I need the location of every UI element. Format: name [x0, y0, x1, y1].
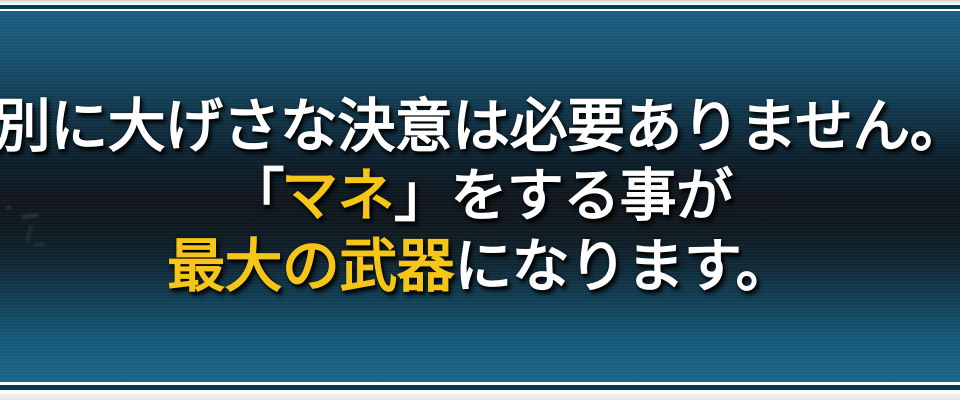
headline-line-2-tail: 」をする事が — [394, 163, 733, 229]
promo-banner: 別に大げさな決意は必要ありません。 「マネ」をする事が 最大の武器になります。 — [0, 0, 960, 400]
bottom-border-chrome — [0, 382, 960, 400]
bottom-grey-strip — [0, 393, 960, 400]
headline-line-1-text: 別に大げさな決意は必要ありません。 — [0, 92, 960, 160]
headline-line-3: 最大の武器になります。 — [167, 234, 793, 299]
headline-line-2: 「マネ」をする事が — [227, 165, 732, 229]
headline-line-2-open-quote: 「 — [227, 163, 281, 229]
top-white-hairline — [0, 9, 960, 11]
headline-line-2-highlight: マネ — [281, 163, 394, 229]
gradient-stage: 別に大げさな決意は必要ありません。 「マネ」をする事が 最大の武器になります。 — [0, 11, 960, 382]
headline-line-1: 別に大げさな決意は必要ありません。 — [0, 94, 960, 159]
top-border-chrome — [0, 0, 960, 11]
headline-line-3-tail: になります。 — [454, 232, 793, 300]
headline-block: 別に大げさな決意は必要ありません。 「マネ」をする事が 最大の武器になります。 — [0, 11, 960, 382]
headline-line-3-highlight: 最大の武器 — [167, 232, 454, 300]
